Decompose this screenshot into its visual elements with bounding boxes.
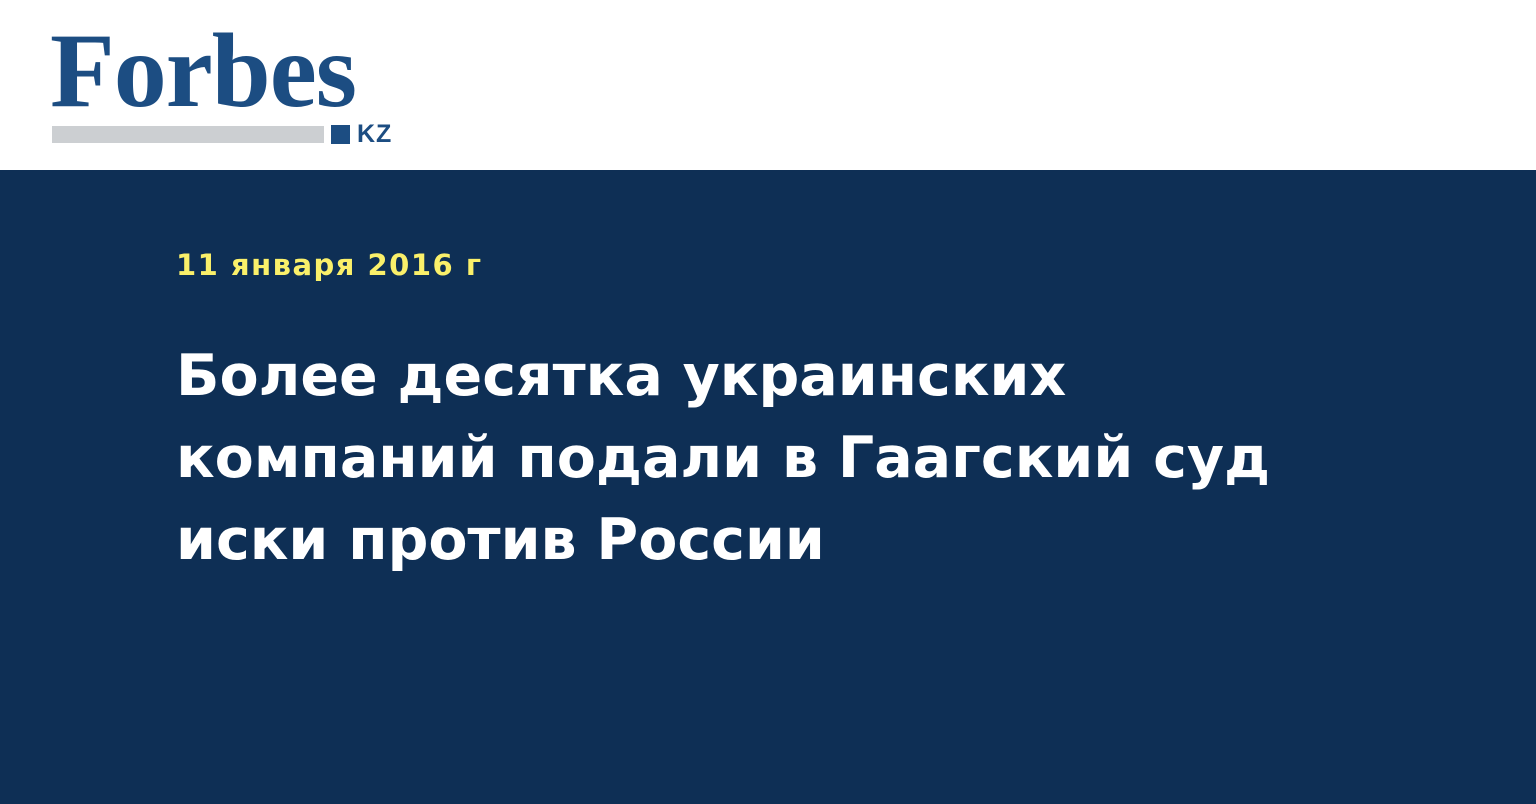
- logo-kz-label: KZ: [357, 122, 392, 147]
- article-page: Forbes KZ 11 января 2016 г Более десятка…: [0, 0, 1536, 804]
- article-title: Более десятка украинских компаний подали…: [176, 282, 1336, 581]
- article-header: 11 января 2016 г Более десятка украински…: [176, 170, 1426, 581]
- logo-square-icon: [331, 125, 350, 144]
- article-date: 11 января 2016 г: [176, 170, 1426, 282]
- forbes-kz-logo[interactable]: Forbes KZ: [50, 18, 410, 152]
- logo-rule: [52, 126, 324, 143]
- forbes-wordmark: Forbes: [50, 18, 356, 124]
- site-header: Forbes KZ: [0, 0, 1536, 170]
